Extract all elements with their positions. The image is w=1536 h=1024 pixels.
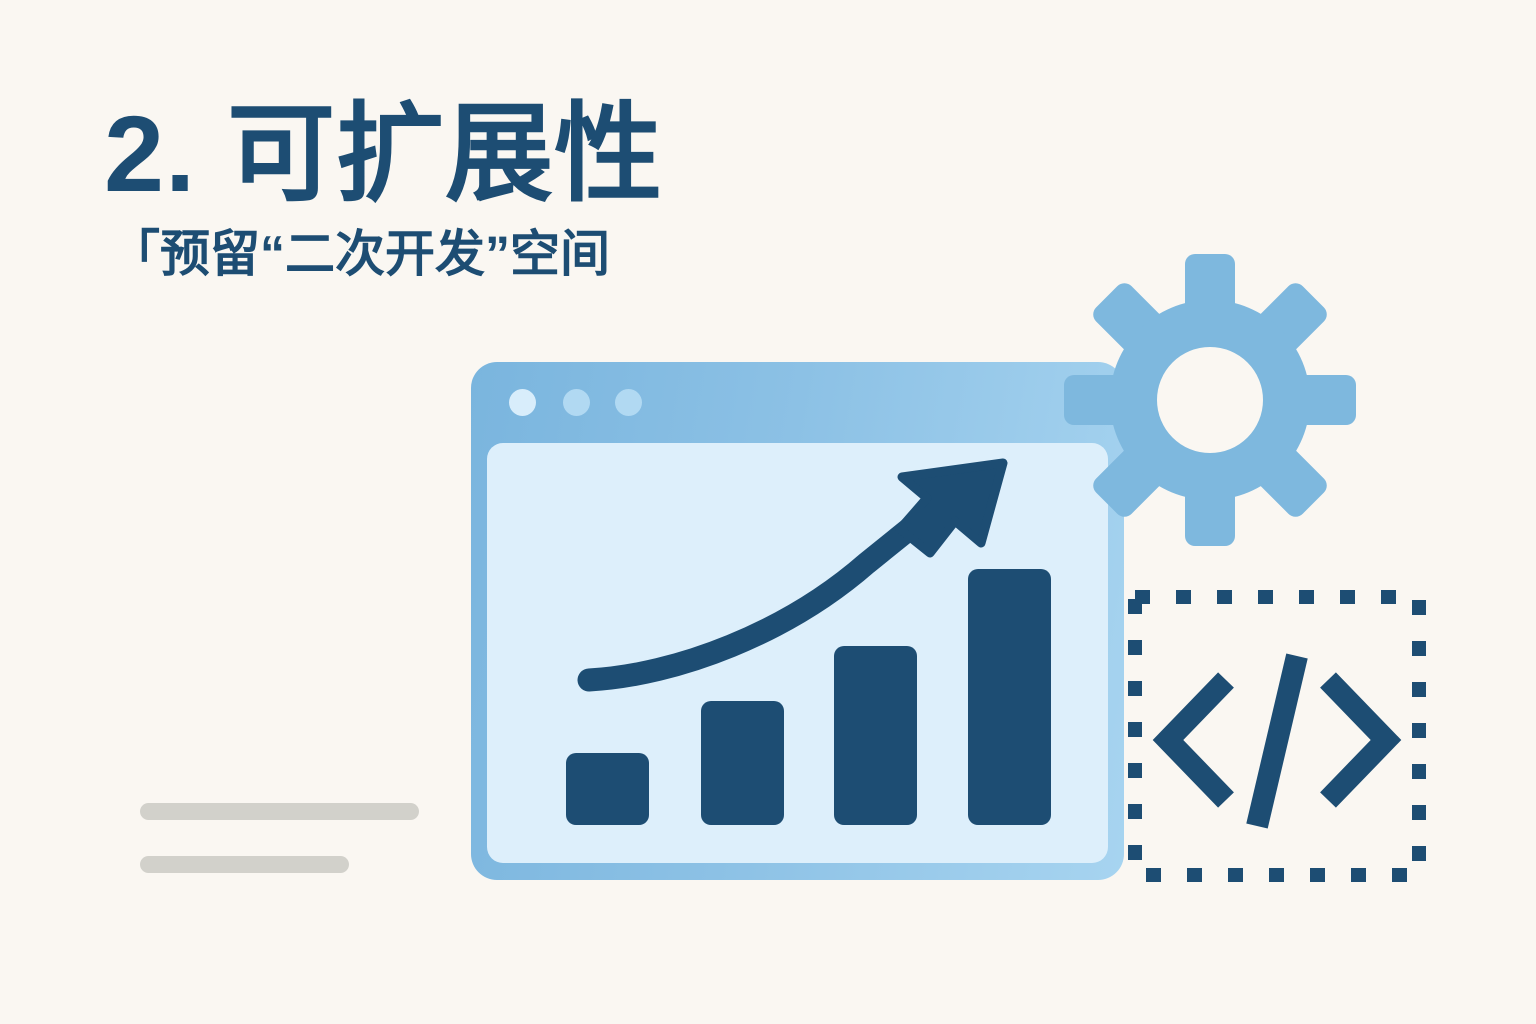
window-dot-maximize-icon — [615, 389, 642, 416]
window-dot-minimize-icon — [563, 389, 590, 416]
page-subtitle: 「预留“二次开发”空间 — [110, 227, 864, 282]
browser-content-area — [487, 443, 1108, 863]
placeholder-text-line-1 — [140, 803, 419, 820]
slide-canvas: 2. 可扩展性 「预留“二次开发”空间 — [0, 0, 1536, 1024]
code-brackets-icon — [1168, 656, 1386, 826]
browser-window-illustration — [471, 362, 1124, 880]
chart-bar-1 — [566, 753, 649, 825]
chart-bar-4 — [968, 569, 1051, 825]
growth-arrow-icon — [589, 463, 1003, 680]
page-title: 2. 可扩展性 — [104, 96, 864, 213]
browser-titlebar — [471, 362, 1124, 444]
gear-icon — [1062, 252, 1358, 548]
chart-bar-3 — [834, 646, 917, 825]
gear-icon-svg — [1062, 252, 1358, 548]
dashed-extension-box — [1128, 590, 1426, 882]
growth-bar-chart — [487, 443, 1108, 863]
chart-bar-2 — [701, 701, 784, 825]
heading-block: 2. 可扩展性 「预留“二次开发”空间 — [104, 96, 864, 282]
window-dot-close-icon — [509, 389, 536, 416]
placeholder-text-line-2 — [140, 856, 349, 873]
code-box-svg — [1128, 590, 1426, 882]
